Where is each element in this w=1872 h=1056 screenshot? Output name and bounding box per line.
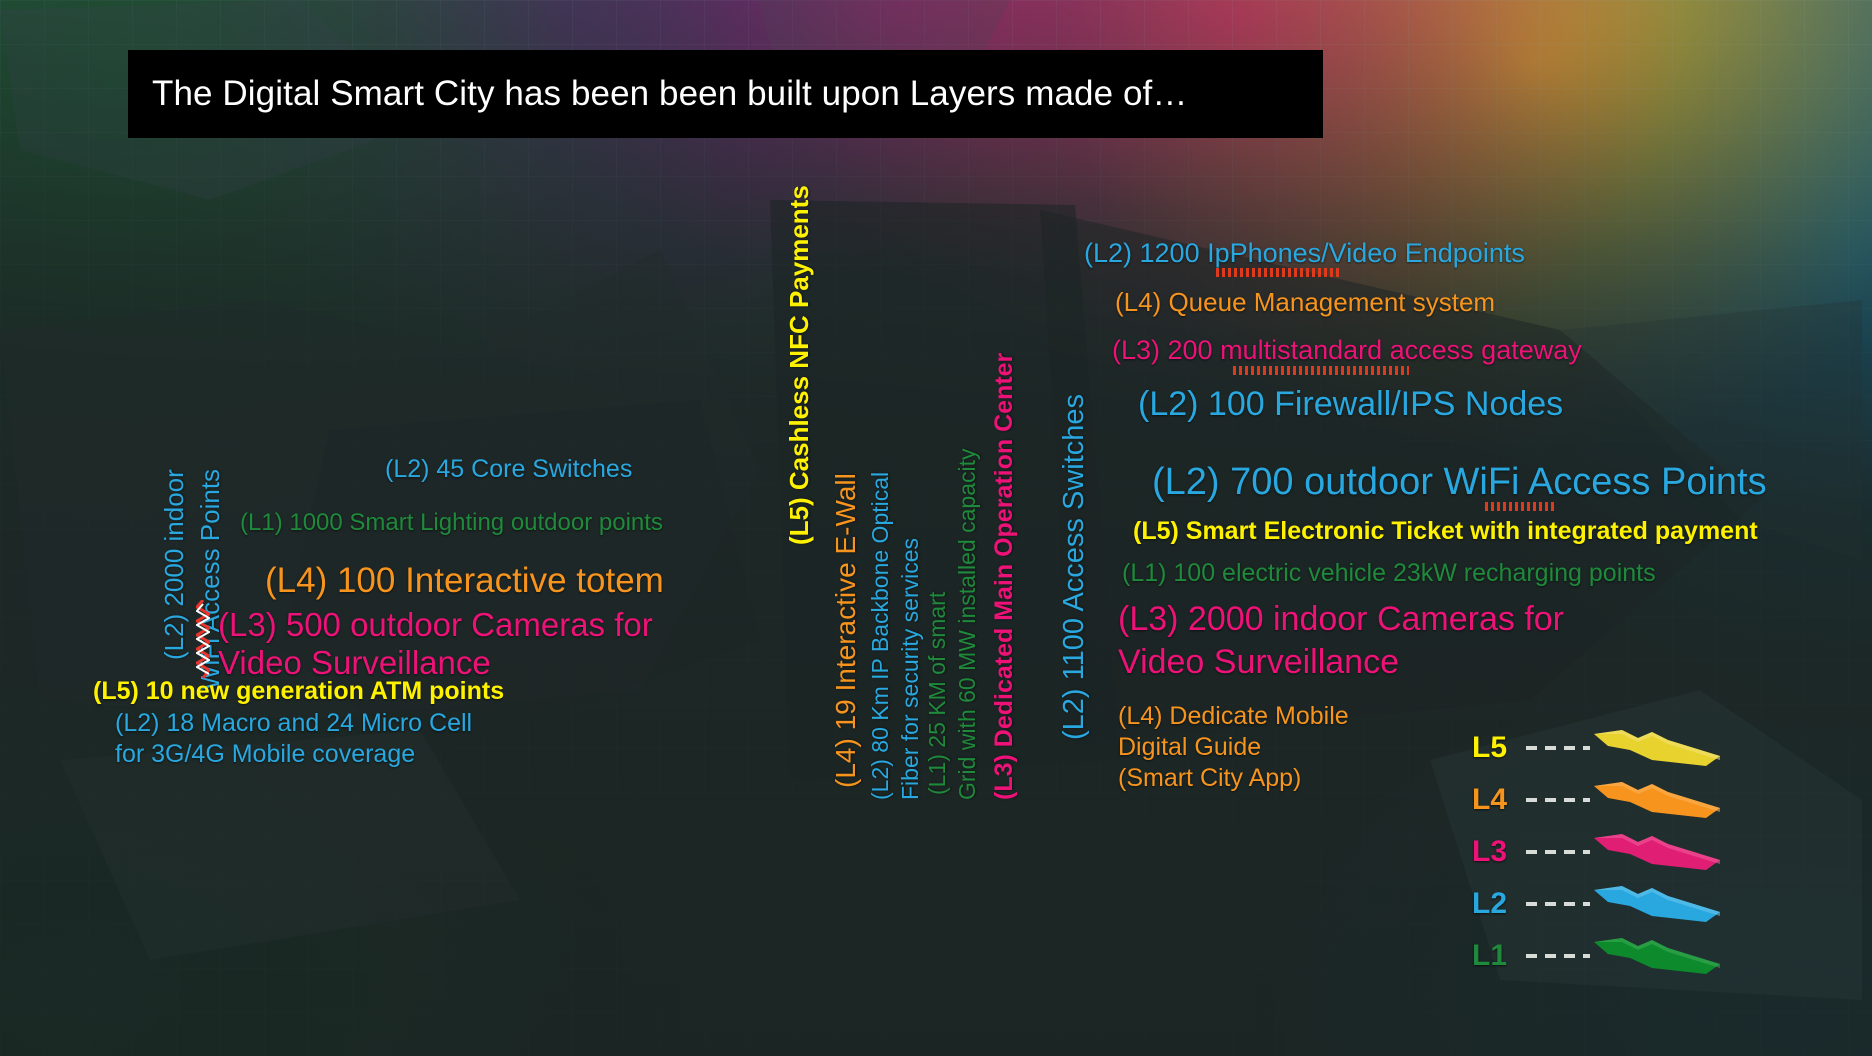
- label-l5-cashless-nfc-payments: (L5) Cashless NFC Payments: [785, 185, 814, 545]
- legend-label-l2: L2: [1472, 887, 1524, 921]
- label-l5-10-atm-points: (L5) 10 new generation ATM points: [93, 677, 504, 705]
- label-l4-19-interactive-ewall: (L4) 19 Interactive E-Wall: [830, 473, 861, 788]
- label-l2-80km-ip-backbone-line2: Fiber for security services: [898, 538, 924, 800]
- legend-arrow-l3-icon: [1594, 830, 1724, 874]
- label-l1-25km-smart-grid-line2: Grid with 60 MW installed capacity: [955, 448, 981, 800]
- slide-canvas: The Digital Smart City has been been bui…: [0, 0, 1872, 1056]
- label-l3-2000-indoor-cameras-line2: Video Surveillance: [1118, 643, 1399, 681]
- legend-label-l1: L1: [1472, 939, 1524, 973]
- label-l4-100-interactive-totem: (L4) 100 Interactive totem: [265, 561, 664, 600]
- legend-connector-l3: [1526, 850, 1590, 854]
- legend-label-l5: L5: [1472, 731, 1524, 765]
- label-l2-macro-micro-cell-line1: (L2) 18 Macro and 24 Micro Cell: [115, 709, 472, 737]
- label-l3-dedicated-main-operation-center: (L3) Dedicated Main Operation Center: [990, 353, 1018, 800]
- label-l3-500-outdoor-cameras-line1: (L3) 500 outdoor Cameras for: [218, 607, 653, 644]
- legend-connector-l2: [1526, 902, 1590, 906]
- label-l2-45-core-switches: (L2) 45 Core Switches: [385, 455, 632, 483]
- label-l2-100-firewall-ips-nodes: (L2) 100 Firewall/IPS Nodes: [1138, 385, 1563, 423]
- legend-arrow-l5-icon: [1594, 726, 1724, 770]
- label-l4-dedicate-mobile-guide-line2: Digital Guide: [1118, 733, 1261, 761]
- legend-item-l3[interactable]: L3: [1472, 829, 1724, 875]
- legend-item-l2[interactable]: L2: [1472, 881, 1724, 927]
- legend-label-l3: L3: [1472, 835, 1524, 869]
- legend-connector-l1: [1526, 954, 1590, 958]
- legend-item-l1[interactable]: L1: [1472, 933, 1724, 979]
- label-l2-80km-ip-backbone-line1: (L2) 80 Km IP Backbone Optical: [868, 472, 894, 800]
- layer-legend: L5 L4 L3 L2: [1472, 725, 1752, 985]
- label-l2-700-outdoor-wifi-access-points: (L2) 700 outdoor WiFi Access Points: [1152, 461, 1767, 504]
- label-l2-1200-ipphones-video-endpoints: (L2) 1200 IpPhones/Video Endpoints: [1084, 238, 1525, 268]
- legend-label-l4: L4: [1472, 783, 1524, 817]
- label-l2-2000-indoor-wifi-line1: (L2) 2000 indoor: [160, 469, 189, 660]
- label-l5-smart-electronic-ticket: (L5) Smart Electronic Ticket with integr…: [1133, 517, 1758, 545]
- label-l1-100-electric-vehicle-recharging: (L1) 100 electric vehicle 23kW rechargin…: [1122, 559, 1656, 587]
- label-l2-macro-micro-cell-line2: for 3G/4G Mobile coverage: [115, 740, 415, 768]
- label-l2-1100-access-switches: (L2) 1100 Access Switches: [1058, 394, 1090, 740]
- legend-connector-l4: [1526, 798, 1590, 802]
- legend-connector-l5: [1526, 746, 1590, 750]
- label-l3-2000-indoor-cameras-line1: (L3) 2000 indoor Cameras for: [1118, 600, 1564, 638]
- legend-arrow-l4-icon: [1594, 778, 1724, 822]
- label-l4-dedicate-mobile-guide-line3: (Smart City App): [1118, 764, 1301, 792]
- legend-item-l5[interactable]: L5: [1472, 725, 1724, 771]
- label-l4-queue-management-system: (L4) Queue Management system: [1115, 288, 1495, 317]
- legend-item-l4[interactable]: L4: [1472, 777, 1724, 823]
- label-l3-200-multistandard-access-gateway: (L3) 200 multistandard access gateway: [1112, 335, 1582, 365]
- legend-arrow-l2-icon: [1594, 882, 1724, 926]
- page-title: The Digital Smart City has been been bui…: [128, 74, 1187, 114]
- legend-arrow-l1-icon: [1594, 934, 1724, 978]
- label-l1-25km-smart-grid-line1: (L1) 25 KM of smart: [925, 592, 951, 795]
- label-l1-1000-smart-lighting: (L1) 1000 Smart Lighting outdoor points: [240, 510, 663, 537]
- label-l4-dedicate-mobile-guide-line1: (L4) Dedicate Mobile: [1118, 702, 1349, 730]
- title-banner: The Digital Smart City has been been bui…: [128, 50, 1323, 138]
